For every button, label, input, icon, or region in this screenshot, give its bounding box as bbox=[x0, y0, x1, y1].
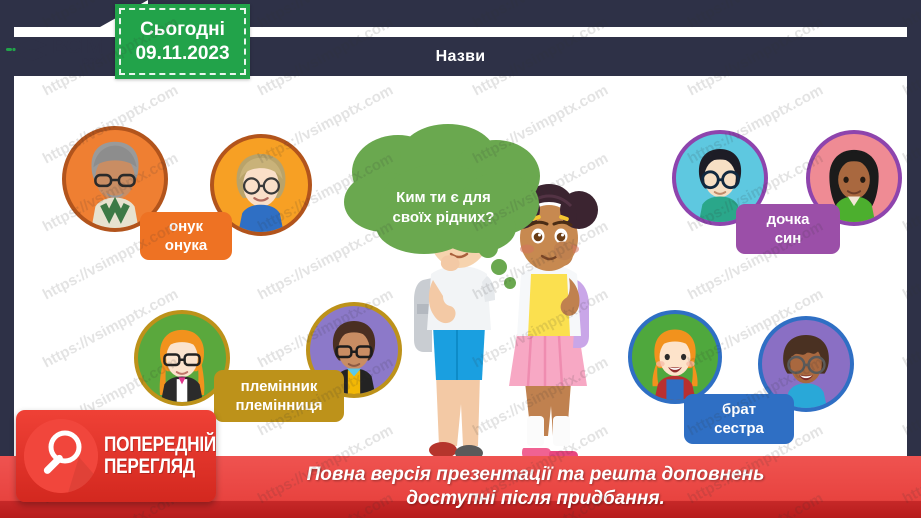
date-value: 09.11.2023 bbox=[135, 42, 229, 66]
magnifier-icon bbox=[24, 419, 98, 493]
sister-face-icon bbox=[632, 314, 718, 400]
plate-grandchild-line-1: онук bbox=[169, 217, 203, 236]
graduation-cap-icon bbox=[6, 34, 48, 68]
aunt-face-icon bbox=[138, 314, 226, 402]
brand-logo[interactable]: ВСІМ pptx bbox=[2, 28, 112, 74]
brand-name: ВСІМ bbox=[52, 36, 103, 57]
banner-line-2: доступні після придбання. bbox=[307, 487, 765, 511]
preview-line-1: ПОПЕРЕДНІЙ bbox=[104, 434, 216, 456]
slide-root: Назви Ким ти є д bbox=[0, 0, 921, 518]
thought-bubble: Ким ти є для своїх рідних? bbox=[336, 120, 551, 295]
bubble-line-1: Ким ти є для bbox=[396, 188, 491, 208]
plate-grandchild: онук онука bbox=[140, 212, 232, 260]
preview-line-2: ПЕРЕГЛЯД bbox=[104, 456, 216, 478]
banner-line-1: Повна версія презентації та решта доповн… bbox=[307, 463, 765, 487]
plate-brother-sister-line-2: сестра bbox=[714, 419, 764, 438]
plate-daughter-son-line-1: дочка bbox=[767, 210, 810, 229]
plate-brother-sister: брат сестра bbox=[684, 394, 794, 444]
plate-grandchild-line-2: онука bbox=[165, 236, 207, 255]
plate-daughter-son-line-2: син bbox=[775, 229, 802, 248]
preview-badge[interactable]: ПОПЕРЕДНІЙ ПЕРЕГЛЯД bbox=[16, 410, 216, 502]
plate-nephew-line-2: племінниця bbox=[235, 396, 322, 415]
plate-nephew-line-1: племінник bbox=[241, 377, 318, 396]
page-title: Назви bbox=[436, 48, 486, 66]
brand-wordmark: ВСІМ pptx bbox=[52, 36, 103, 67]
purchase-banner-text: Повна версія презентації та решта доповн… bbox=[157, 463, 765, 511]
thought-bubble-text: Ким ти є для своїх рідних? bbox=[336, 120, 551, 295]
plate-nephew: племінник племінниця bbox=[214, 370, 344, 422]
plate-daughter-son: дочка син bbox=[736, 204, 840, 254]
sister-avatar[interactable] bbox=[628, 310, 722, 404]
preview-badge-label: ПОПЕРЕДНІЙ ПЕРЕГЛЯД bbox=[104, 434, 216, 477]
bubble-line-2: своїх рідних? bbox=[393, 208, 495, 228]
date-label: Сьогодні bbox=[140, 18, 225, 42]
plate-brother-sister-line-1: брат bbox=[722, 400, 756, 419]
today-date-badge: Сьогодні 09.11.2023 bbox=[115, 4, 250, 79]
